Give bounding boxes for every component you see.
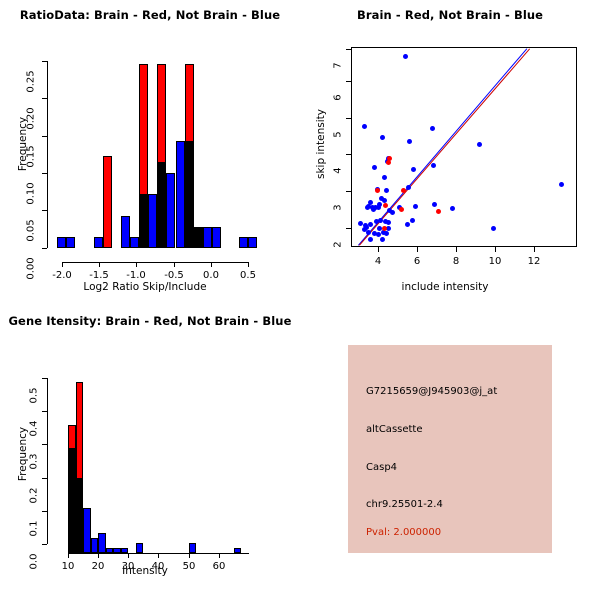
gene-info-box (348, 345, 552, 553)
histogram-bar (106, 548, 114, 553)
ratio-x-ticklabel: 0.0 (191, 270, 231, 281)
scatter-x-tick (456, 247, 457, 252)
pval-label: Pval: 2.000000 (366, 527, 441, 538)
histogram-bar (212, 227, 221, 248)
histogram-bar (83, 508, 91, 553)
intensity-scatter-panel: Brain - Red, Not Brain - Blue skip inten… (300, 0, 600, 300)
scatter-x-tick (495, 247, 496, 252)
histogram-bar (121, 216, 130, 248)
scatter-y-ticklabel: 5 (333, 119, 344, 151)
scatter-y-ticklabel: 4 (333, 155, 344, 187)
scatter-point (410, 218, 415, 223)
histogram-bar (176, 141, 185, 248)
histogram-bar (203, 227, 212, 248)
histogram-bar (148, 194, 157, 248)
ratio-x-axis (62, 262, 249, 263)
scatter-point (384, 231, 389, 236)
ratio-histogram-bars (0, 0, 300, 300)
histogram-bar (121, 548, 129, 553)
scatter-x-tick (534, 247, 535, 252)
histogram-bar (68, 425, 76, 553)
histogram-bar (91, 538, 99, 553)
histogram-bar (239, 237, 248, 248)
ratio-x-tick (136, 262, 137, 267)
histogram-bar (66, 237, 75, 248)
intensity-scatter-plot: 2 3 4 5 6 7 4 6 8 10 12 (300, 0, 600, 300)
histogram-bar (185, 64, 194, 248)
ratio-x-ticklabel: -1.0 (116, 270, 156, 281)
locus-label: chr9.25501-2.4 (366, 499, 443, 510)
histogram-bar (248, 237, 257, 248)
regression-line-brain-fit (359, 48, 530, 245)
gene-x-tick (158, 553, 159, 558)
scatter-y-tick (346, 81, 351, 82)
histogram-bar (57, 237, 66, 248)
scatter-x-ticklabel: 4 (358, 256, 398, 267)
scatter-y-ticklabel: 2 (333, 229, 344, 261)
scatter-y-tick (346, 118, 351, 119)
gene-intensity-panel: Gene Itensity: Brain - Red, Not Brain - … (0, 300, 300, 600)
probe-id-label: G7215659@J945903@j_at (366, 386, 497, 397)
scatter-point (405, 222, 410, 227)
histogram-bar (139, 64, 148, 248)
scatter-y-ticklabel: 3 (333, 192, 344, 224)
scatter-point (368, 237, 373, 242)
ratio-x-tick (62, 262, 63, 267)
ratio-x-tick (211, 262, 212, 267)
histogram-bar (113, 548, 121, 553)
scatter-point (378, 218, 383, 223)
scatter-point (372, 165, 377, 170)
scatter-point (384, 188, 389, 193)
scatter-point (413, 204, 418, 209)
histogram-bar (234, 548, 242, 553)
scatter-point (411, 167, 416, 172)
gene-symbol-label: Casp4 (366, 462, 397, 473)
scatter-point (375, 188, 380, 193)
scatter-point (450, 206, 455, 211)
scatter-y-ticklabel: 6 (333, 82, 344, 114)
ratio-x-ticklabel: -1.5 (79, 270, 119, 281)
histogram-bar (194, 227, 203, 248)
scatter-y-tick (346, 49, 351, 50)
scatter-point (383, 203, 388, 208)
histogram-bar (130, 237, 139, 248)
ratio-x-tick (248, 262, 249, 267)
gene-info-panel: G7215659@J945903@j_at altCassette Casp4 … (300, 300, 600, 600)
scatter-point (382, 175, 387, 180)
scatter-x-ticklabel: 6 (397, 256, 437, 267)
scatter-y-tick (346, 191, 351, 192)
gene-x-tick (189, 553, 190, 558)
histogram-bar (157, 64, 166, 248)
scatter-y-tick (346, 154, 351, 155)
ratio-x-tick (174, 262, 175, 267)
scatter-regression-lines (300, 0, 600, 300)
scatter-point (386, 220, 391, 225)
scatter-x-tick (378, 247, 379, 252)
histogram-bar (136, 543, 144, 553)
histogram-bar (189, 543, 197, 553)
gene-x-tick (219, 553, 220, 558)
scatter-x-tick (417, 247, 418, 252)
scatter-x-ticklabel: 10 (475, 256, 515, 267)
ratio-x-ticklabel: -0.5 (154, 270, 194, 281)
scatter-point (376, 205, 381, 210)
ratio-x-tick (99, 262, 100, 267)
histogram-bar (76, 382, 84, 553)
gene-x-tick (128, 553, 129, 558)
histogram-bar (98, 533, 106, 553)
scatter-y-ticklabel: 7 (333, 50, 344, 82)
scatter-point (380, 237, 385, 242)
gene-intensity-bars (0, 300, 300, 600)
ratio-x-ticklabel: -2.0 (42, 270, 82, 281)
scatter-point (430, 126, 435, 131)
scatter-point (377, 226, 382, 231)
event-type-label: altCassette (366, 424, 423, 435)
scatter-y-tick (346, 228, 351, 229)
ratio-x-ticklabel: 0.5 (228, 270, 268, 281)
gene-x-tick (98, 553, 99, 558)
scatter-x-ticklabel: 8 (436, 256, 476, 267)
scatter-point (380, 135, 385, 140)
scatter-point (401, 188, 406, 193)
gene-intensity-plot: 0.0 0.1 0.2 0.3 0.4 0.5 10 20 30 40 50 6… (0, 300, 300, 600)
histogram-bar (166, 173, 175, 248)
ratio-histogram-panel: RatioData: Brain - Red, Not Brain - Blue… (0, 0, 300, 300)
scatter-point (382, 226, 387, 231)
scatter-point (366, 230, 371, 235)
histogram-bar (103, 156, 112, 248)
gene-x-tick (68, 553, 69, 558)
gene-x-ticklabel: 60 (199, 561, 239, 572)
scatter-x-ticklabel: 12 (514, 256, 554, 267)
ratio-histogram-plot: 0.00 0.05 0.10 0.15 0.20 0.25 -2.0 -1.5 … (0, 0, 300, 300)
histogram-bar (94, 237, 103, 248)
